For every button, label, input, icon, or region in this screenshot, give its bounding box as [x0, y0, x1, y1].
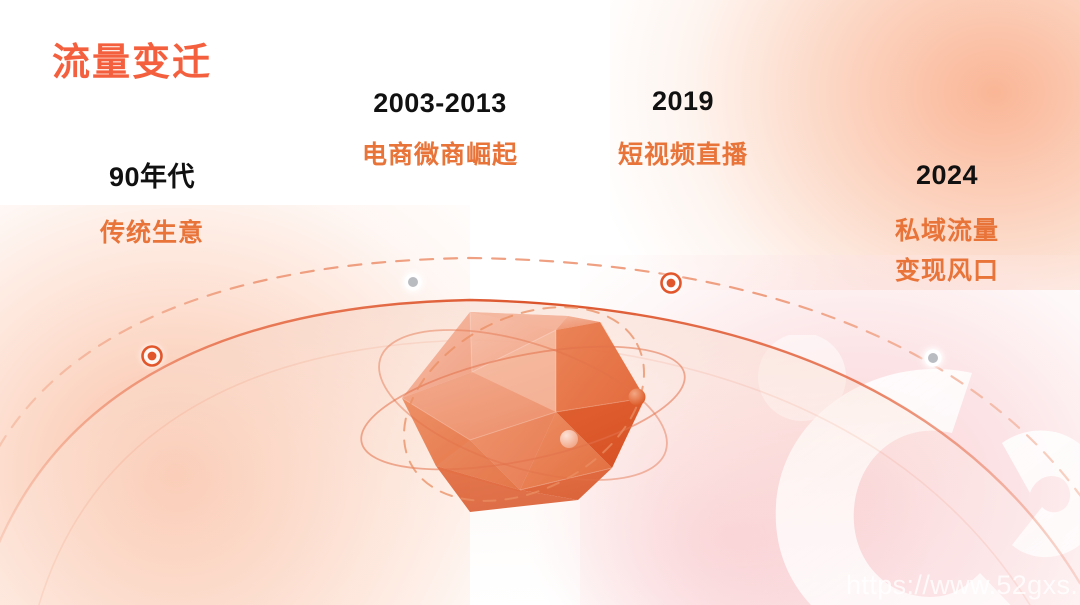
timeline-dot-active-core-1[interactable]: [148, 352, 157, 361]
timeline-node-3[interactable]: [660, 208, 682, 294]
timeline-year-4: 2024: [852, 160, 1042, 191]
timeline-year-3: 2019: [588, 86, 778, 117]
timeline-label-4: 2024 私域流量 变现风口: [852, 160, 1042, 290]
timeline-desc-2: 电商微商崛起: [330, 137, 550, 175]
timeline-desc-1: 传统生意: [62, 215, 242, 253]
orbit-dot-2: [560, 430, 578, 448]
timeline-node-2[interactable]: [403, 272, 424, 293]
timeline-label-3: 2019 短视频直播: [588, 86, 778, 175]
timeline-year-1: 90年代: [62, 162, 242, 193]
timeline-label-2: 2003-2013 电商微商崛起: [330, 88, 550, 175]
timeline-dot-active-core-3[interactable]: [667, 279, 676, 288]
timeline-year-2: 2003-2013: [330, 88, 550, 119]
timeline-label-1: 90年代 传统生意: [62, 162, 242, 253]
timeline-desc-3: 短视频直播: [588, 137, 778, 175]
timeline-node-4[interactable]: [923, 326, 944, 369]
slide-canvas: 流量变迁 90年代 传统生意 2003-2013 电商微商崛起 2019 短视频…: [0, 0, 1080, 605]
orbit-dot-1: [629, 389, 646, 406]
timeline-dot-inactive-core-4[interactable]: [928, 353, 938, 363]
timeline-desc-4-line2: 变现风口: [852, 253, 1042, 291]
timeline-dot-inactive-core-2[interactable]: [408, 277, 418, 287]
timeline-node-1[interactable]: [141, 234, 163, 367]
timeline-desc-4-line1: 私域流量: [852, 213, 1042, 251]
page-title: 流量变迁: [52, 31, 212, 86]
